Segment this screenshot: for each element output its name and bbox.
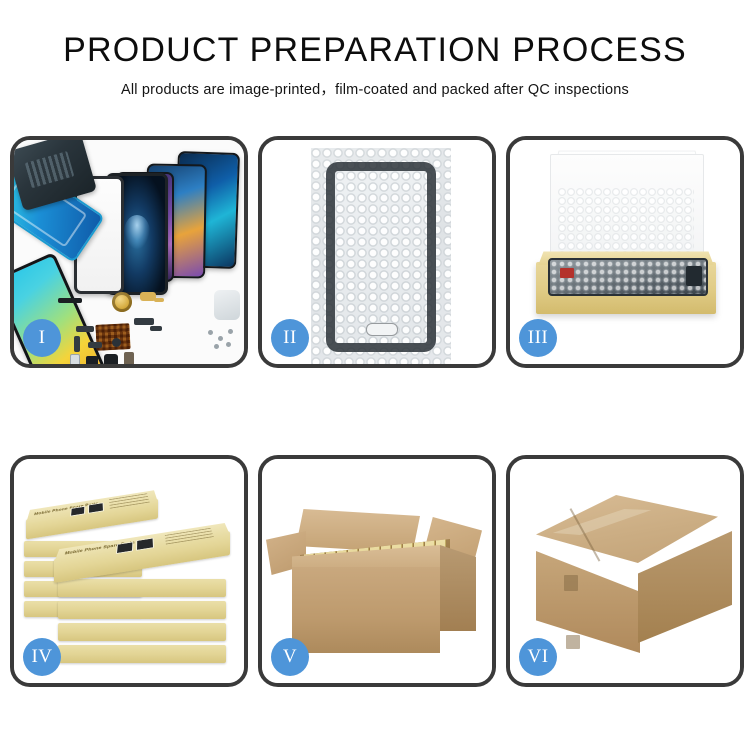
box-stack: Mobile Phone Spare Parts Mobile Phone Sp… (24, 483, 238, 659)
step-badge-4: IV (23, 638, 61, 676)
part-icon (86, 356, 98, 364)
header: PRODUCT PREPARATION PROCESS All products… (0, 0, 750, 99)
home-button-icon (366, 323, 398, 336)
step-badge-5: V (271, 638, 309, 676)
page-subtitle: All products are image-printed，film-coat… (0, 78, 750, 99)
phone-thumbnail-icon (88, 502, 104, 513)
part-icon (154, 298, 164, 302)
step-badge-3: III (519, 319, 557, 357)
step-badge-6: VI (519, 638, 557, 676)
phone-thumbnail-icon (116, 542, 133, 554)
phone-thumbnail-icon (70, 506, 85, 517)
process-step-6[interactable]: VI (506, 455, 744, 687)
carton-tab-icon (564, 575, 578, 591)
kraft-box-top-icon: Mobile Phone Spare Parts (26, 499, 158, 540)
kraft-box-icon (58, 623, 226, 641)
page-title: PRODUCT PREPARATION PROCESS (0, 33, 750, 69)
speaker-coil-icon (112, 292, 132, 312)
part-icon (112, 338, 121, 347)
carton-tab-icon (566, 635, 580, 649)
process-step-4[interactable]: Mobile Phone Spare Parts Mobile Phone Sp… (10, 455, 248, 687)
process-step-3[interactable]: III (506, 136, 744, 368)
process-step-2[interactable]: II (258, 136, 496, 368)
bubble-wrap-icon (311, 148, 451, 364)
kraft-box-top-icon: Mobile Phone Spare Parts (54, 531, 230, 583)
infographic-page: PRODUCT PREPARATION PROCESS All products… (0, 0, 750, 750)
screws-icon (206, 328, 236, 350)
box-spec-lines (165, 527, 214, 544)
part-icon (150, 326, 162, 331)
part-icon (58, 298, 82, 303)
step-badge-1: I (23, 319, 61, 357)
kraft-box-icon (58, 601, 226, 619)
box-printed-face: Mobile Phone Spare Parts (26, 490, 158, 523)
part-icon (70, 354, 80, 364)
part-icon (88, 342, 102, 348)
part-icon (134, 318, 154, 325)
connector-icon (686, 266, 702, 286)
process-step-grid: I II (10, 136, 740, 687)
box-spec-lines (109, 493, 150, 508)
wrapped-screen-icon (548, 258, 708, 296)
phone-thumbnail-icon (136, 538, 154, 551)
phone-screen-icon (326, 162, 436, 352)
part-icon (104, 354, 118, 364)
process-step-1[interactable]: I (10, 136, 248, 368)
carton-front-face-icon (536, 551, 640, 653)
part-icon (74, 336, 80, 352)
part-icon (124, 352, 134, 364)
process-step-5[interactable]: V (258, 455, 496, 687)
carton-side-face-icon (440, 545, 476, 631)
label-sticker-icon (560, 268, 574, 278)
step-badge-2: II (271, 319, 309, 357)
kraft-box-icon (58, 645, 226, 663)
kraft-box-tray-icon (536, 262, 716, 314)
tool-icon (214, 290, 240, 320)
carton-front-face-icon (292, 567, 440, 653)
kraft-box-icon (58, 579, 226, 597)
part-icon (76, 326, 94, 332)
